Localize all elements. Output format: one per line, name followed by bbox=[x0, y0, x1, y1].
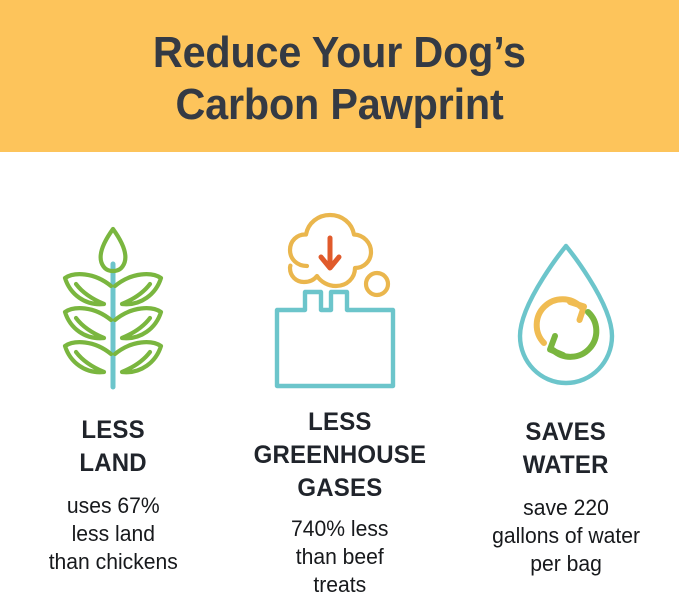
heading-line-2: LAND bbox=[79, 447, 146, 480]
header-banner: Reduce Your Dog’s Carbon Pawprint bbox=[0, 0, 679, 152]
benefit-columns: LESS LAND uses 67% less land than chicke… bbox=[0, 152, 679, 576]
column-body-less-greenhouse-gases: 740% less than beef treats bbox=[291, 515, 388, 599]
heading-line-3: GASES bbox=[253, 472, 426, 505]
column-heading-less-land: LESS LAND bbox=[79, 414, 146, 480]
heading-line-1: SAVES bbox=[523, 416, 609, 449]
heading-line-1: LESS bbox=[79, 414, 146, 447]
body-line-1: uses 67% bbox=[49, 492, 178, 520]
benefit-column-less-greenhouse-gases: LESS GREENHOUSE GASES 740% less than bee… bbox=[226, 152, 452, 599]
body-line-1: save 220 bbox=[492, 494, 640, 522]
column-heading-less-greenhouse-gases: LESS GREENHOUSE GASES bbox=[253, 406, 426, 505]
column-heading-saves-water: SAVES WATER bbox=[523, 416, 609, 482]
body-line-2: gallons of water bbox=[492, 522, 640, 550]
body-line-3: per bag bbox=[492, 550, 640, 578]
heading-line-2: GREENHOUSE bbox=[253, 439, 426, 472]
benefit-column-saves-water: SAVES WATER save 220 gallons of water pe… bbox=[453, 152, 679, 578]
body-line-2: less land bbox=[49, 520, 178, 548]
body-line-1: 740% less bbox=[291, 515, 388, 543]
factory-emissions-icon bbox=[269, 152, 409, 406]
benefit-column-less-land: LESS LAND uses 67% less land than chicke… bbox=[0, 152, 226, 576]
column-body-saves-water: save 220 gallons of water per bag bbox=[492, 494, 640, 578]
body-line-3: than chickens bbox=[49, 548, 178, 576]
heading-line-2: WATER bbox=[523, 449, 609, 482]
body-line-2: than beef bbox=[291, 543, 388, 571]
column-body-less-land: uses 67% less land than chickens bbox=[49, 492, 178, 576]
heading-line-1: LESS bbox=[253, 406, 426, 439]
water-drop-recycle-icon bbox=[511, 152, 621, 404]
header-title-line-1: Reduce Your Dog’s bbox=[153, 27, 526, 79]
infographic-root: Reduce Your Dog’s Carbon Pawprint bbox=[0, 0, 679, 576]
body-line-3: treats bbox=[291, 571, 388, 599]
header-title-line-2: Carbon Pawprint bbox=[175, 79, 503, 131]
leaf-plant-icon bbox=[54, 152, 172, 402]
